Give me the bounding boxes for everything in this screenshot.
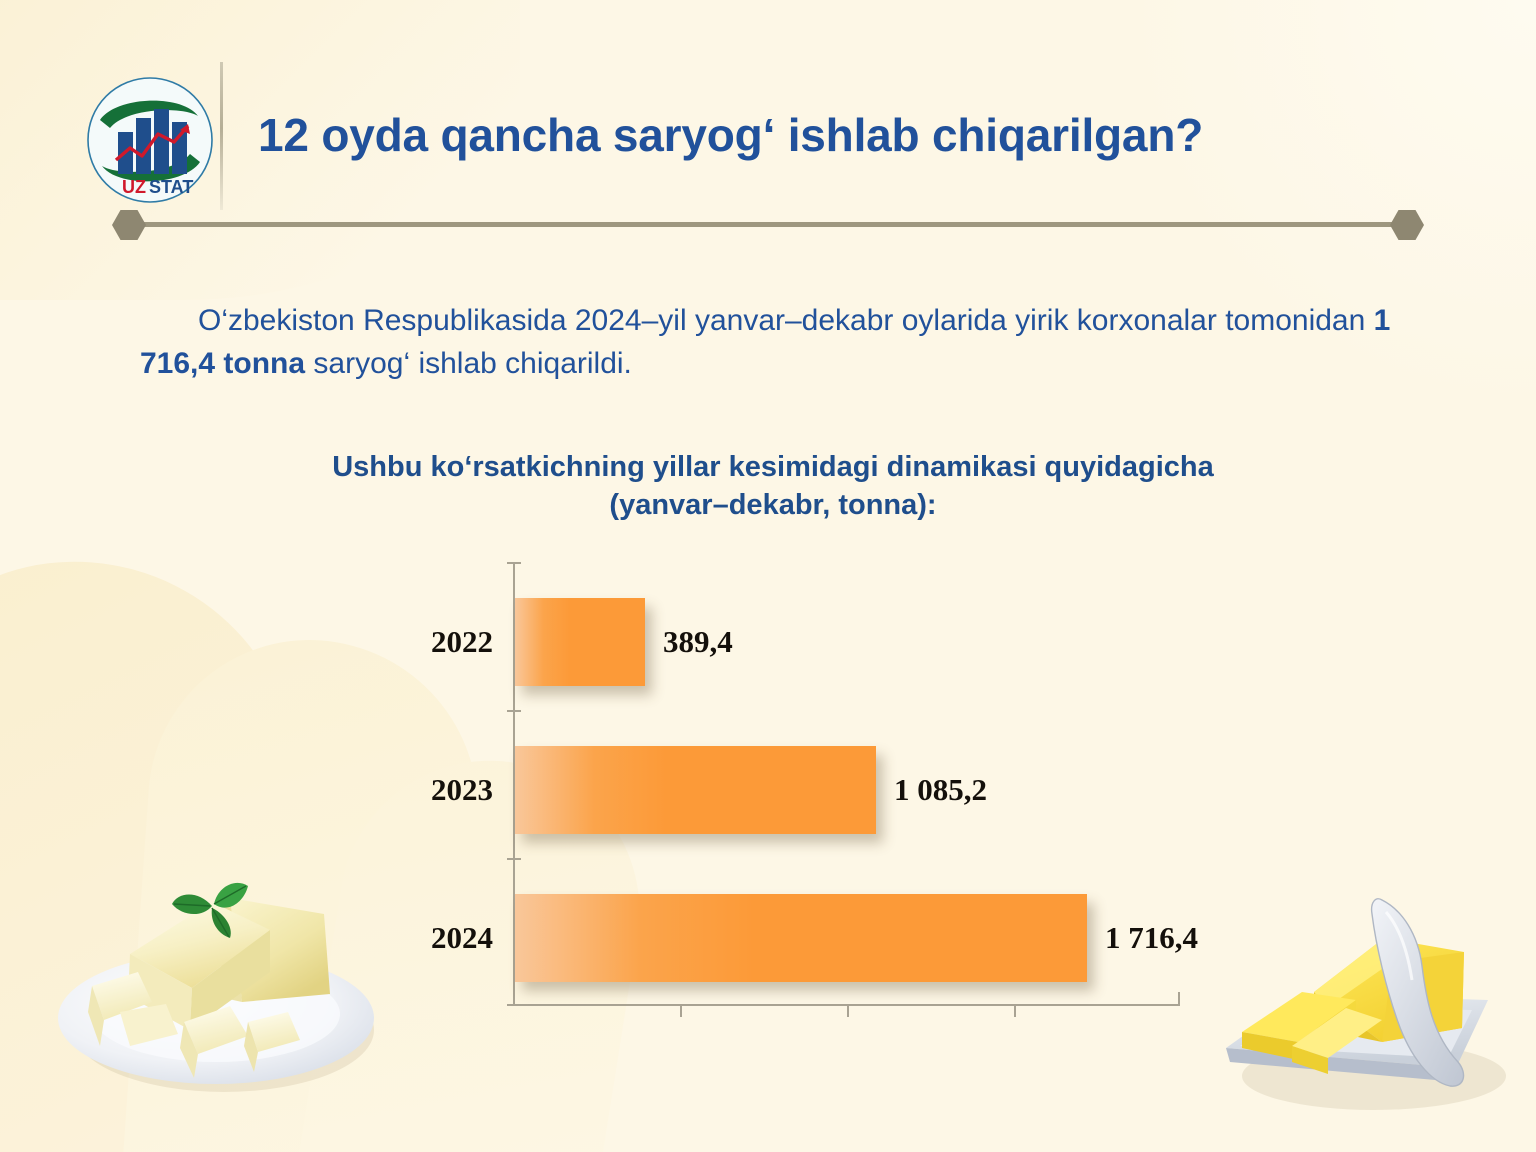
x-axis-tick-1 (680, 1004, 682, 1017)
y-axis-tick-1 (507, 710, 521, 712)
chart-heading: Ushbu ko‘rsatkichning yillar kesimidagi … (218, 448, 1328, 525)
x-axis-tick-end (1178, 992, 1180, 1006)
y-axis-cap-bottom (507, 1004, 521, 1006)
logo-text-uz: UZ (122, 177, 146, 197)
x-axis-tick-3 (1014, 1004, 1016, 1017)
bar-chart: 2022 389,4 2023 1 085,2 2024 1 716,4 (404, 556, 1194, 1026)
chart-heading-line-1: Ushbu ko‘rsatkichning yillar kesimidagi … (218, 448, 1328, 486)
lede-paragraph: O‘zbekiston Respublikasida 2024–yil yanv… (140, 300, 1402, 385)
y-axis-tick-2 (507, 858, 521, 860)
hexagon-left-icon (112, 209, 146, 241)
butter-dish-with-knife-illustration (1206, 896, 1526, 1126)
bar-2024 (515, 894, 1087, 982)
butter-on-plate-photo (34, 862, 404, 1112)
bar-category-label: 2022 (431, 624, 493, 660)
bar-value-label: 389,4 (663, 624, 733, 660)
page-title: 12 oyda qancha saryog‘ ishlab chiqarilga… (258, 108, 1398, 162)
rule-line (130, 222, 1408, 227)
x-axis-tick-2 (847, 1004, 849, 1017)
chart-heading-line-2: (yanvar–dekabr, tonna): (218, 486, 1328, 524)
uzstat-logo: UZ STAT (86, 76, 214, 204)
bar-value-label: 1 085,2 (894, 772, 987, 808)
bar-2022 (515, 598, 645, 686)
lede-text-before: O‘zbekiston Respublikasida 2024–yil yanv… (198, 304, 1374, 337)
bar-2023 (515, 746, 876, 834)
bar-category-label: 2023 (431, 772, 493, 808)
header-divider (220, 62, 223, 210)
header-rule (112, 209, 1424, 241)
lede-text-after: saryog‘ ishlab chiqarildi. (305, 347, 632, 380)
hexagon-right-icon (1390, 209, 1424, 241)
bar-category-label: 2024 (431, 920, 493, 956)
y-axis-cap-top (507, 562, 521, 564)
bar-value-label: 1 716,4 (1105, 920, 1198, 956)
logo-text-stat: STAT (149, 177, 193, 197)
